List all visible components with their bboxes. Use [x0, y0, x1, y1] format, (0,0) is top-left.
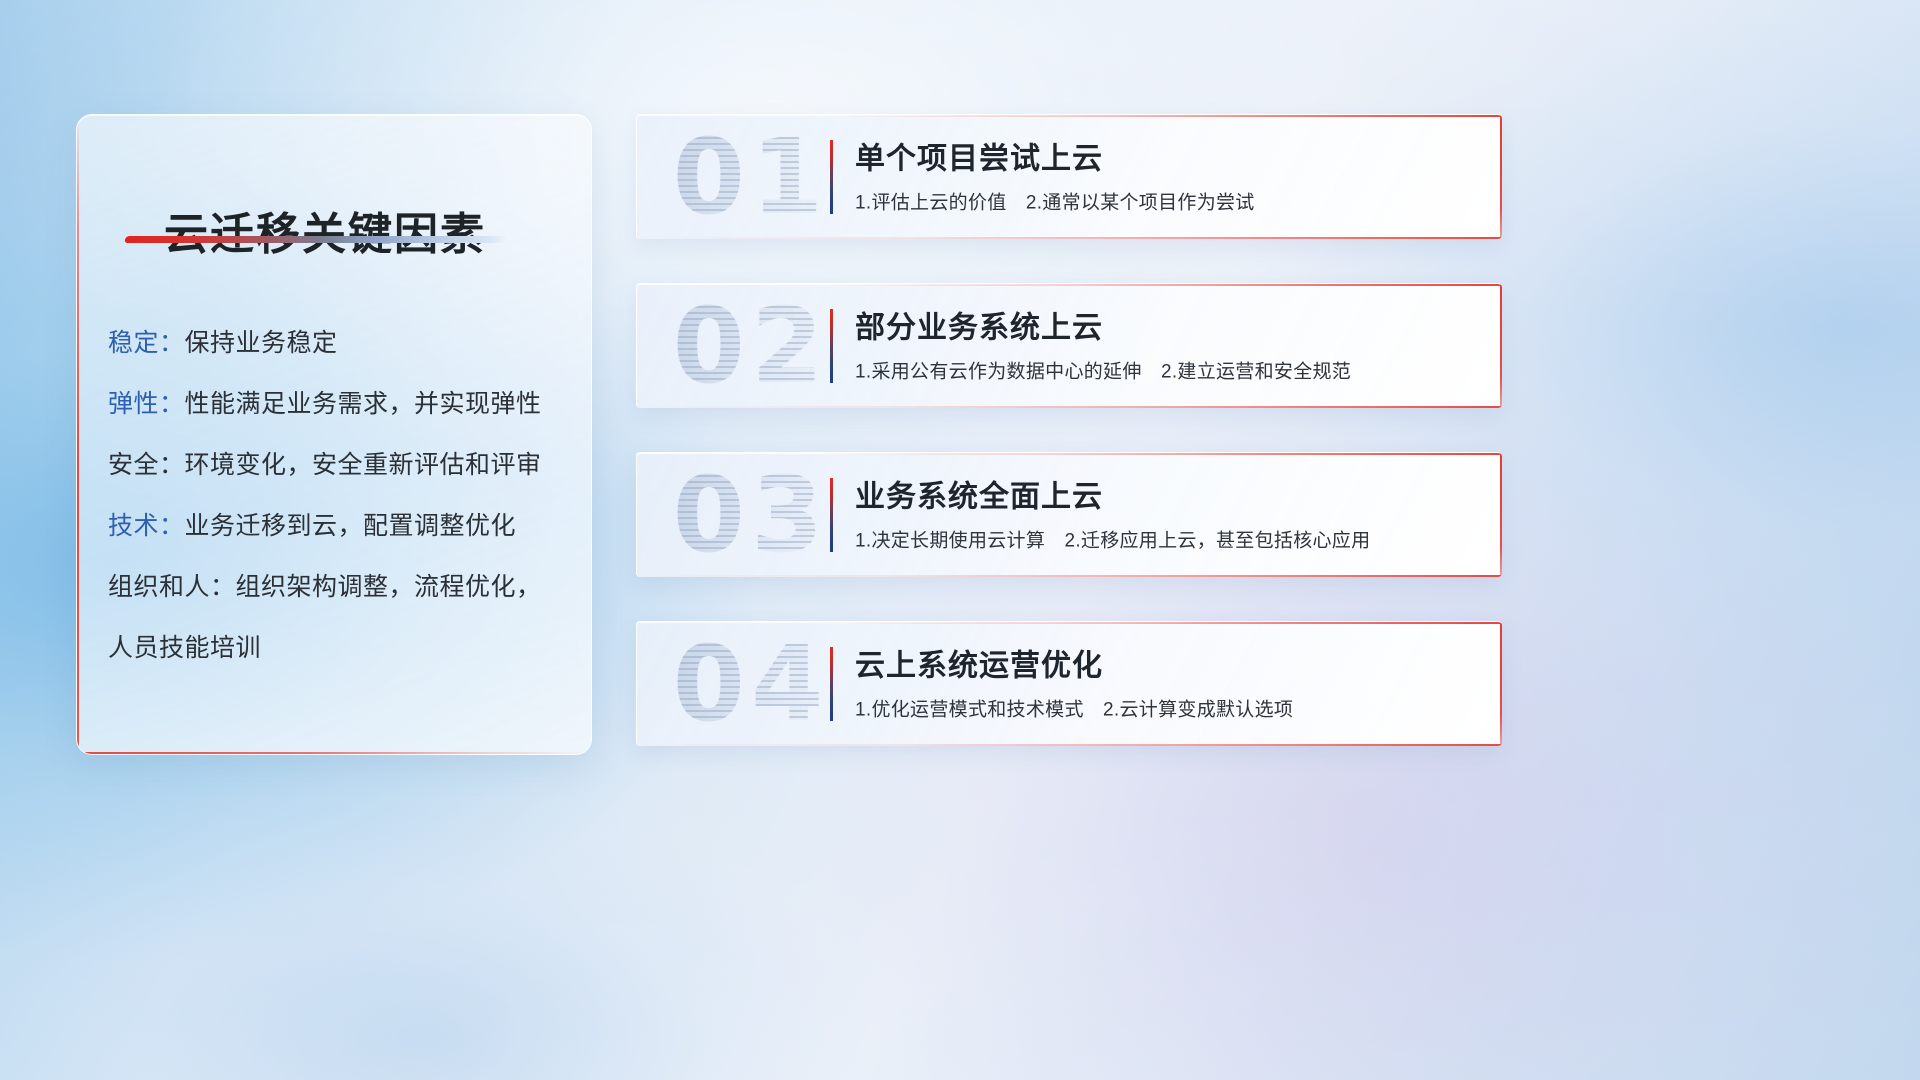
stage-card[interactable]: 04 云上系统运营优化 1.优化运营模式和技术模式 2.云计算变成默认选项 [636, 621, 1502, 746]
card-accent-right [1500, 284, 1502, 408]
list-item: 安全：环境变化，安全重新评估和评审 [108, 435, 573, 496]
card-title: 部分业务系统上云 [855, 309, 1480, 347]
card-accent-bottom [637, 406, 1502, 408]
card-accent-top [827, 284, 1502, 286]
card-description: 1.评估上云的价值 2.通常以某个项目作为尝试 [855, 187, 1480, 214]
card-accent-bottom [637, 744, 1502, 746]
list-item-text: 组织架构调整，流程优化， [236, 573, 542, 601]
card-step-number-glyph: 02 [673, 294, 830, 398]
list-item-text: 性能满足业务需求，并实现弹性 [185, 390, 542, 418]
slide-canvas: 云迁移关键因素 稳定：保持业务稳定 弹性：性能满足业务需求，并实现弹性 安全：环… [0, 0, 1920, 1080]
card-accent-top [827, 453, 1502, 455]
card-text-block: 业务系统全面上云 1.决定长期使用云计算 2.迁移应用上云，甚至包括核心应用 [855, 478, 1480, 552]
list-item-text: 业务迁移到云，配置调整优化 [185, 512, 517, 540]
list-item-label: 技术： [108, 512, 185, 540]
list-item-label: 安全： [108, 451, 185, 479]
list-item-label: 组织和人： [108, 573, 236, 601]
card-step-number-glyph: 04 [673, 632, 830, 736]
card-text-block: 云上系统运营优化 1.优化运营模式和技术模式 2.云计算变成默认选项 [855, 647, 1480, 721]
card-divider-bar [830, 309, 833, 383]
list-item: 人员技能培训 [108, 618, 573, 679]
card-title: 业务系统全面上云 [855, 478, 1480, 516]
card-step-number: 04 [661, 630, 841, 738]
stage-card[interactable]: 03 业务系统全面上云 1.决定长期使用云计算 2.迁移应用上云，甚至包括核心应… [636, 452, 1502, 577]
list-item-label: 稳定： [108, 329, 185, 357]
card-accent-bottom [637, 575, 1502, 577]
card-accent-right [1500, 622, 1502, 746]
card-text-block: 单个项目尝试上云 1.评估上云的价值 2.通常以某个项目作为尝试 [855, 140, 1480, 214]
card-title: 单个项目尝试上云 [855, 140, 1480, 178]
list-item-text: 保持业务稳定 [185, 329, 338, 357]
list-item: 弹性：性能满足业务需求，并实现弹性 [108, 374, 573, 435]
card-step-number: 02 [661, 292, 841, 400]
list-item-label: 弹性： [108, 390, 185, 418]
card-divider-bar [830, 647, 833, 721]
card-description: 1.采用公有云作为数据中心的延伸 2.建立运营和安全规范 [855, 356, 1480, 383]
card-divider-bar [830, 140, 833, 214]
card-description: 1.决定长期使用云计算 2.迁移应用上云，甚至包括核心应用 [855, 525, 1480, 552]
card-divider-bar [830, 478, 833, 552]
card-step-number-glyph: 03 [673, 463, 830, 567]
card-step-number: 01 [661, 123, 841, 231]
list-item-text: 人员技能培训 [108, 634, 261, 662]
stage-card[interactable]: 02 部分业务系统上云 1.采用公有云作为数据中心的延伸 2.建立运营和安全规范 [636, 283, 1502, 408]
card-accent-right [1500, 453, 1502, 577]
card-step-number-glyph: 01 [673, 125, 830, 229]
page-title: 云迁移关键因素 [164, 198, 486, 262]
card-accent-right [1500, 115, 1502, 239]
key-factors-panel: 云迁移关键因素 稳定：保持业务稳定 弹性：性能满足业务需求，并实现弹性 安全：环… [76, 114, 592, 755]
key-factors-list: 稳定：保持业务稳定 弹性：性能满足业务需求，并实现弹性 安全：环境变化，安全重新… [108, 313, 573, 679]
list-item: 稳定：保持业务稳定 [108, 313, 573, 374]
title-underline-gradient [124, 236, 508, 243]
card-accent-top [827, 622, 1502, 624]
card-title: 云上系统运营优化 [855, 647, 1480, 685]
card-step-number: 03 [661, 461, 841, 569]
list-item: 技术：业务迁移到云，配置调整优化 [108, 496, 573, 557]
card-description: 1.优化运营模式和技术模式 2.云计算变成默认选项 [855, 694, 1480, 721]
card-accent-bottom [637, 237, 1502, 239]
card-accent-top [827, 115, 1502, 117]
list-item: 组织和人：组织架构调整，流程优化， [108, 557, 573, 618]
panel-bottom-accent-line [77, 752, 591, 754]
stage-card[interactable]: 01 单个项目尝试上云 1.评估上云的价值 2.通常以某个项目作为尝试 [636, 114, 1502, 239]
card-text-block: 部分业务系统上云 1.采用公有云作为数据中心的延伸 2.建立运营和安全规范 [855, 309, 1480, 383]
list-item-text: 环境变化，安全重新评估和评审 [185, 451, 542, 479]
migration-stage-cards: 01 单个项目尝试上云 1.评估上云的价值 2.通常以某个项目作为尝试 02 部… [636, 114, 1502, 790]
